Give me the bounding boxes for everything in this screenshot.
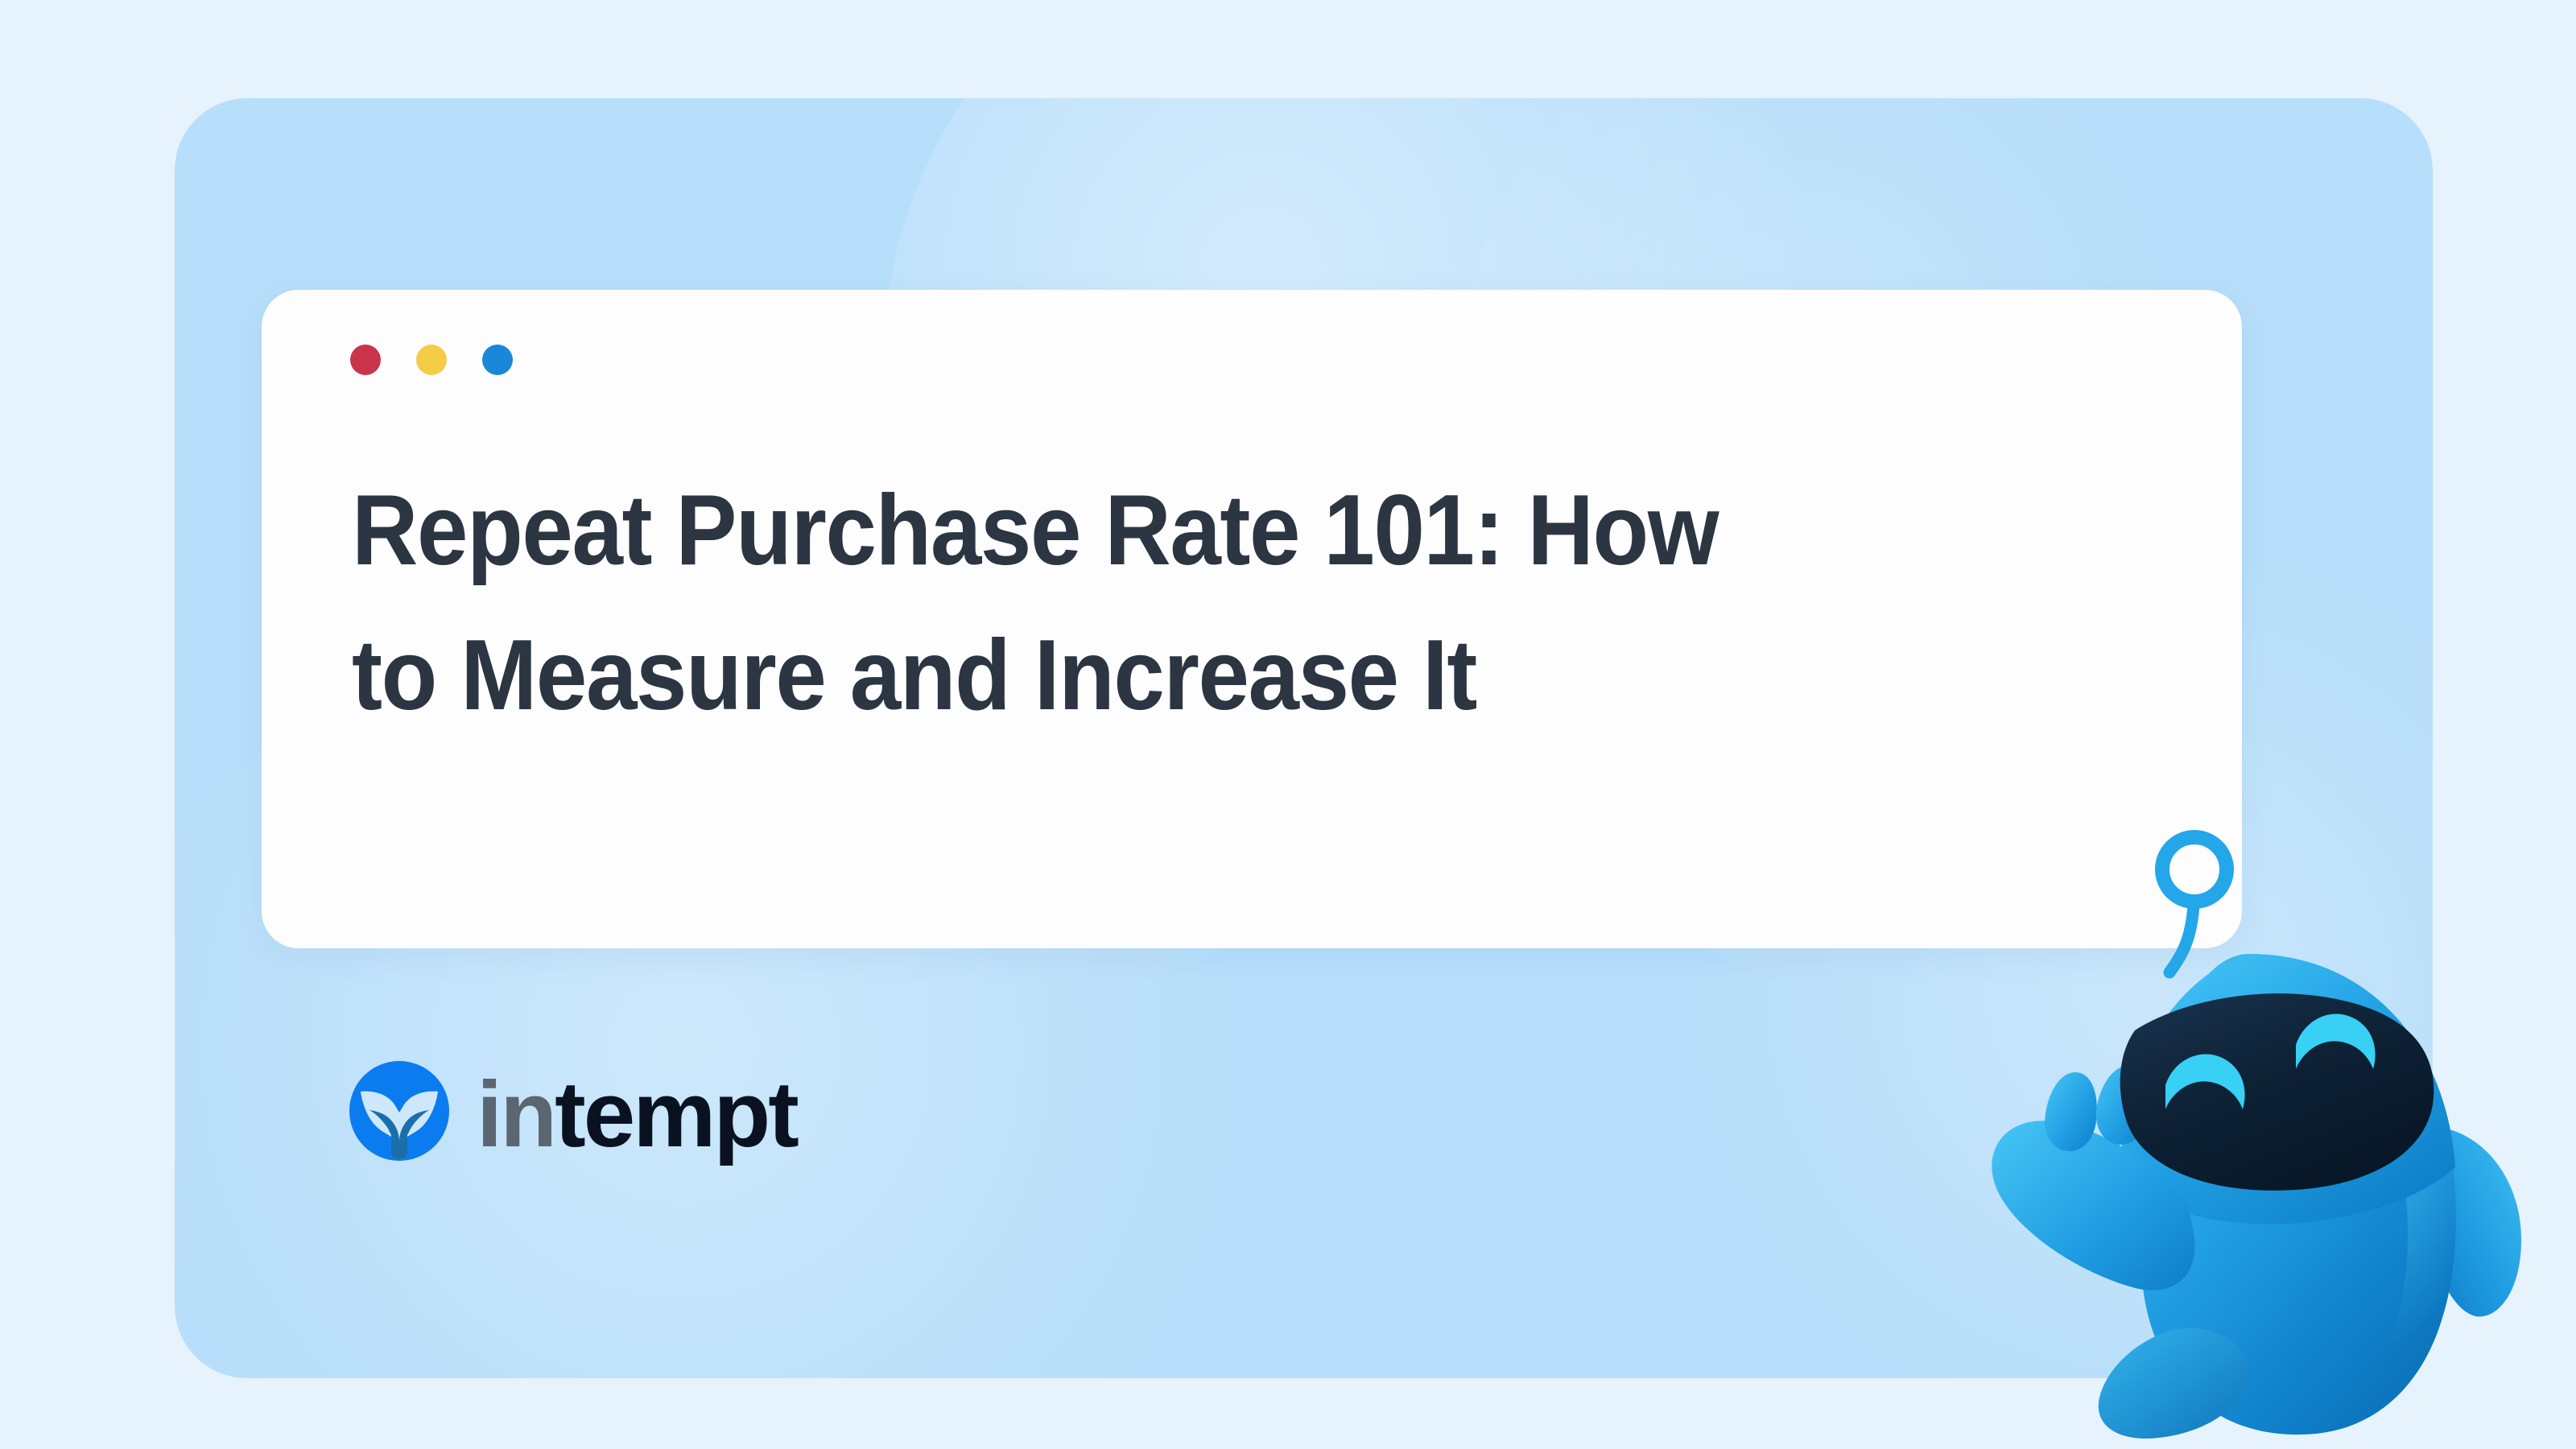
wordmark-part-tempt: tempt (555, 1062, 797, 1166)
page-title: Repeat Purchase Rate 101: How to Measure… (352, 459, 1967, 749)
window-controls (350, 345, 513, 375)
intempt-wordmark: intempt (477, 1067, 797, 1161)
antenna-icon (2162, 837, 2227, 972)
close-dot[interactable] (350, 345, 381, 375)
page-canvas: Repeat Purchase Rate 101: How to Measure… (0, 0, 2576, 1449)
wordmark-part-in: in (477, 1062, 555, 1166)
intempt-robot-mascot (1924, 789, 2576, 1449)
maximize-dot[interactable] (482, 345, 513, 375)
intempt-logo[interactable]: intempt (348, 1059, 797, 1162)
minimize-dot[interactable] (416, 345, 447, 375)
intempt-tulip-mark-icon (348, 1059, 451, 1162)
